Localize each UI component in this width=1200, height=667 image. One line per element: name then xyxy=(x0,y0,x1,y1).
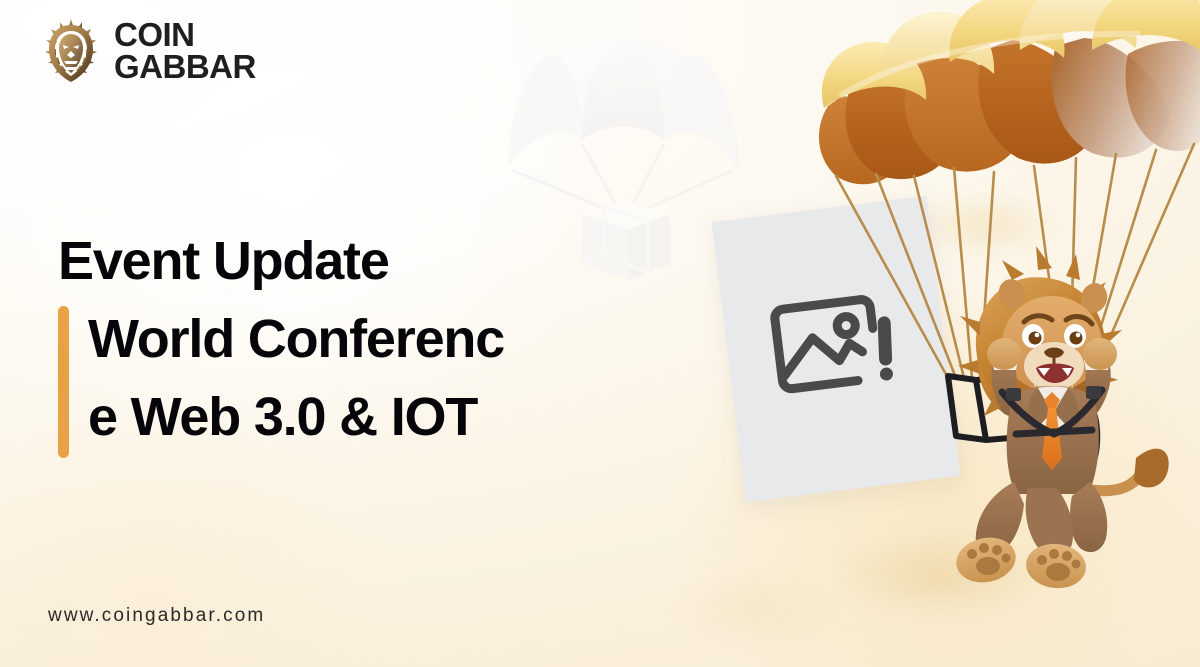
headline-body: World Conferenc e Web 3.0 & IOT xyxy=(58,300,658,456)
brand-name-line-2: GABBAR xyxy=(114,51,256,83)
headline-line-2: World Conferenc xyxy=(88,300,658,378)
headline-block: Event Update World Conferenc e Web 3.0 &… xyxy=(58,222,658,456)
site-url[interactable]: www.coingabbar.com xyxy=(48,605,265,627)
lion-head-logo-icon xyxy=(40,16,102,86)
headline-line-3: e Web 3.0 & IOT xyxy=(88,378,658,456)
event-update-banner: COIN GABBAR Event Update World Conferenc… xyxy=(0,0,1200,667)
brand-logo[interactable]: COIN GABBAR xyxy=(40,16,256,86)
brand-name-line-1: COIN xyxy=(114,19,256,51)
image-placeholder-card xyxy=(712,196,961,502)
broken-image-icon xyxy=(763,280,908,407)
cloud-wisp-icon xyxy=(640,560,870,660)
cloud-wisp-icon xyxy=(790,515,1090,635)
headline-line-1: Event Update xyxy=(58,222,658,300)
accent-bar xyxy=(58,306,69,458)
